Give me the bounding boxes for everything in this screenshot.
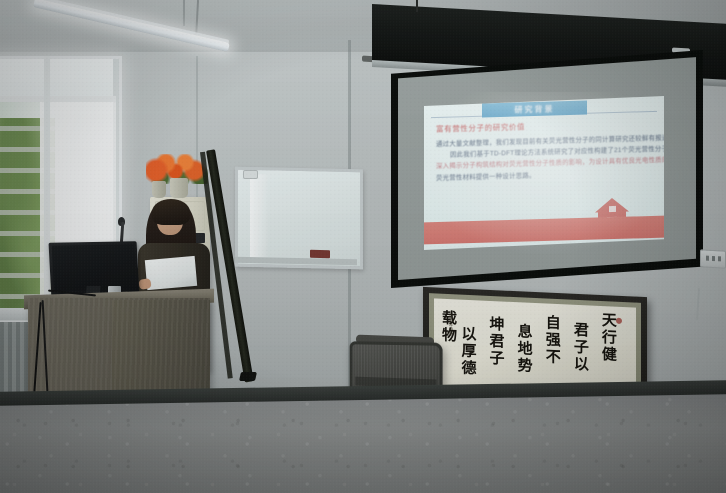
house-window-shape <box>609 206 616 212</box>
whiteboard-clip <box>243 170 258 179</box>
slide-title-banner: 研究背景 <box>482 101 587 118</box>
whiteboard-eraser <box>310 250 330 258</box>
presentation-slide: 研究背景 富有营性分子的研究价值 通过大量文献整理，我们发现目前有关荧光营性分子… <box>424 96 664 250</box>
calligraphy-signature: 辛丑年仲春 <box>448 313 453 336</box>
calligraphy-column: 君子以 <box>574 322 600 374</box>
calligraphy-column: 坤君子 <box>490 316 516 368</box>
calligraphy-column: 自强不 <box>546 314 572 366</box>
wall-power-socket[interactable] <box>700 249 726 268</box>
slide-title-text: 研究背景 <box>515 103 555 115</box>
window-mullion-vertical <box>44 56 50 318</box>
presenter-notes <box>145 256 197 290</box>
slide-body: 通过大量文献整理，我们发现目前有关荧光营性分子的同计算研究还较鲜有报道。 因此我… <box>436 133 654 184</box>
presenter-fringe <box>152 199 190 225</box>
calligraphy-column: 息地势 <box>518 323 544 375</box>
slide-footer-band <box>424 216 664 245</box>
calligraphy-column: 天行健 <box>602 312 628 364</box>
window-mullion-horizontal <box>0 96 116 102</box>
floor-speckle-texture <box>0 392 726 493</box>
monitor-screen <box>52 244 136 290</box>
banner-pole-base <box>239 372 257 381</box>
whiteboard-glare <box>250 174 268 260</box>
flower-vase <box>170 178 188 198</box>
socket-pin-slot <box>718 256 721 261</box>
valance-bracket <box>416 0 418 12</box>
socket-pin-slot <box>706 256 709 261</box>
red-seal-stamp <box>616 318 622 324</box>
classroom-photo: 研究背景 富有营性分子的研究价值 通过大量文献整理，我们发现目前有关荧光营性分子… <box>0 0 726 493</box>
whiteboard <box>235 167 363 270</box>
flower-vase <box>152 181 166 198</box>
socket-pin-slot <box>712 256 715 261</box>
calligraphy-column: 以厚德 <box>461 326 487 378</box>
slide-heading: 富有营性分子的研究价值 <box>436 120 556 132</box>
light-wire-secondary <box>183 0 185 26</box>
window-transom <box>0 59 113 101</box>
